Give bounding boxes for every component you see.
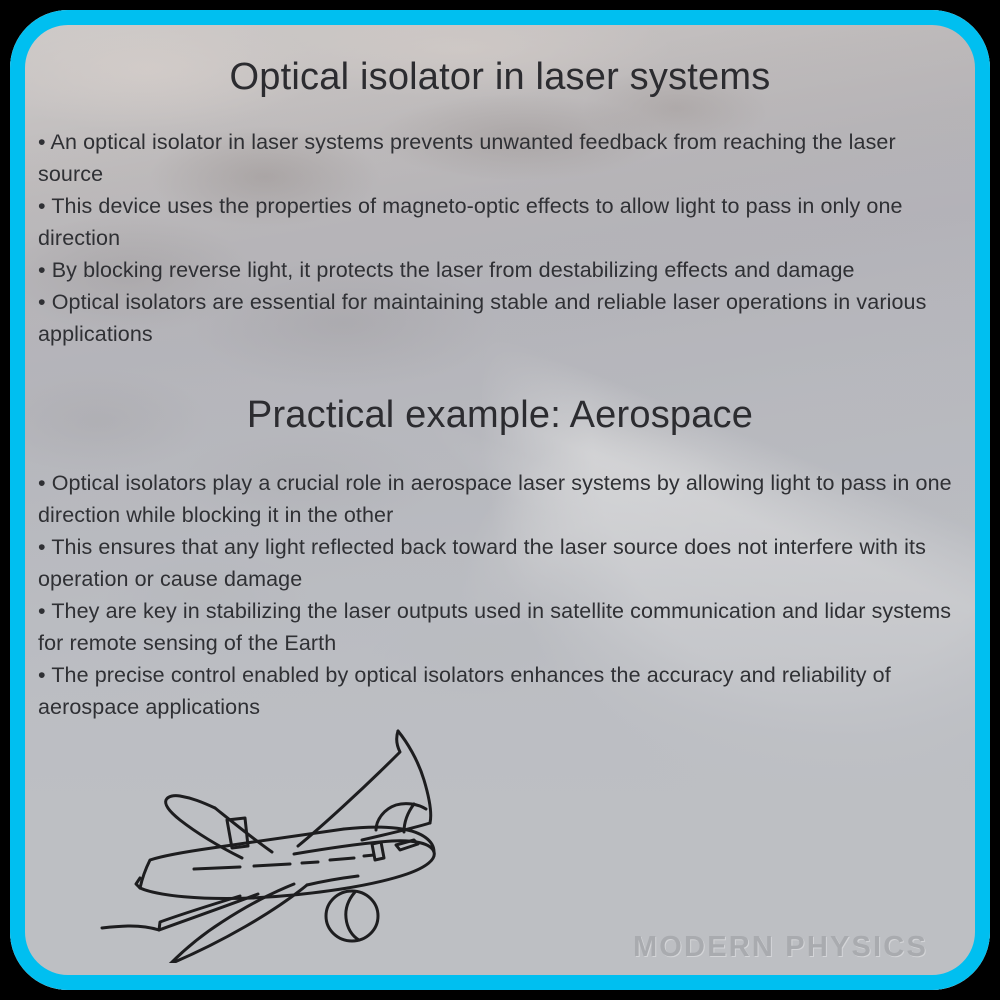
list-item: By blocking reverse light, it protects t…: [38, 254, 962, 286]
list-item: Optical isolators play a crucial role in…: [38, 467, 962, 531]
list-item: Optical isolators are essential for main…: [38, 286, 962, 350]
list-item: An optical isolator in laser systems pre…: [38, 126, 962, 190]
slide: Optical isolator in laser systems An opt…: [0, 0, 1000, 1000]
airplane-icon: [62, 728, 472, 963]
main-bullet-list: An optical isolator in laser systems pre…: [38, 126, 962, 350]
watermark-label: MODERN PHYSICS: [633, 931, 928, 964]
list-item: They are key in stabilizing the laser ou…: [38, 595, 962, 659]
page-title: Optical isolator in laser systems: [38, 48, 962, 102]
list-item: This device uses the properties of magne…: [38, 190, 962, 254]
list-item: This ensures that any light reflected ba…: [38, 531, 962, 595]
example-bullet-list: Optical isolators play a crucial role in…: [38, 467, 962, 723]
list-item: The precise control enabled by optical i…: [38, 659, 962, 723]
section-title: Practical example: Aerospace: [38, 350, 962, 440]
